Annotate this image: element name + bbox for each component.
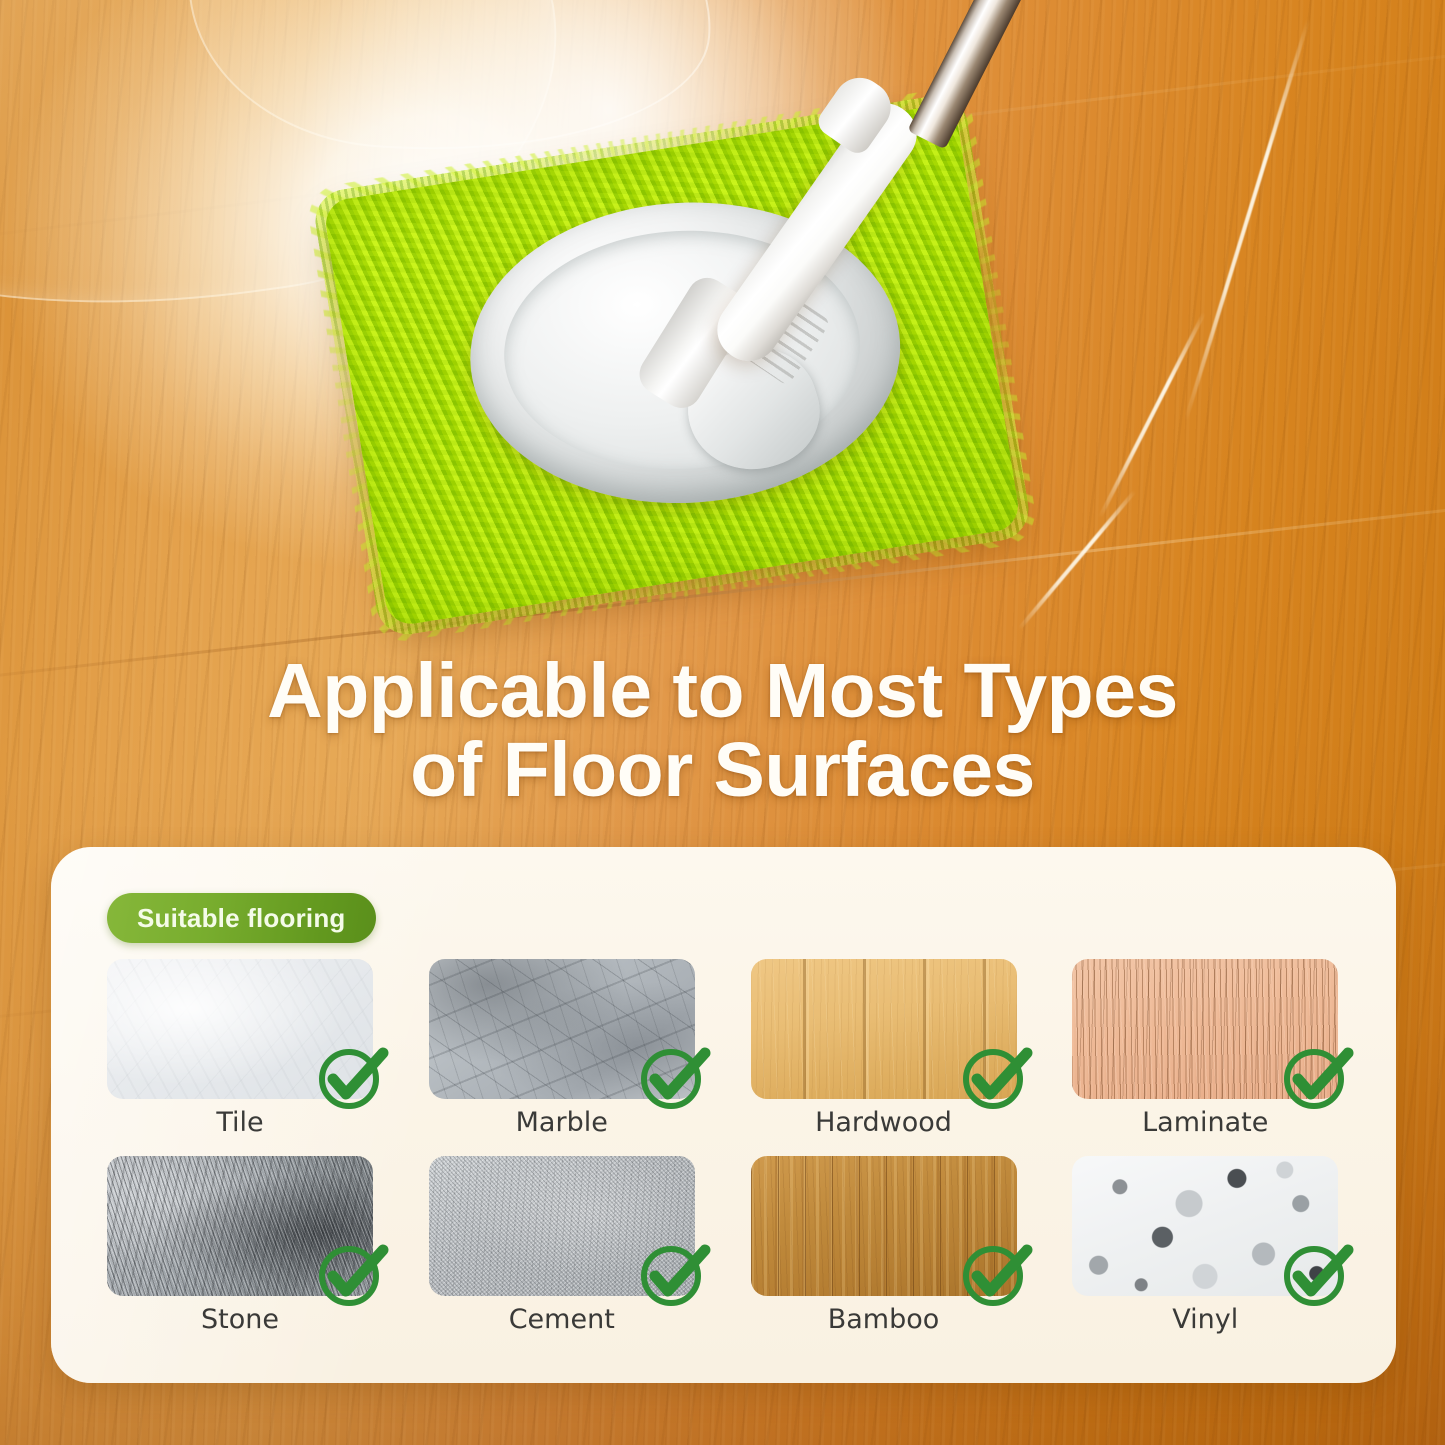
check-circle-icon: [1278, 1234, 1356, 1312]
product-feature-image: Applicable to Most Types of Floor Surfac…: [0, 0, 1445, 1445]
flooring-grid: Tile Marble Hardwood Laminate Stone Ceme…: [107, 959, 1342, 1335]
swatch-stone: [107, 1156, 373, 1296]
check-circle-icon: [313, 1234, 391, 1312]
swatch-marble: [429, 959, 695, 1099]
badge-label: Suitable flooring: [137, 903, 346, 934]
flooring-item: Bamboo: [751, 1156, 1021, 1335]
flooring-item: Laminate: [1072, 959, 1342, 1138]
flooring-item: Marble: [429, 959, 699, 1138]
swatch-cement: [429, 1156, 695, 1296]
flooring-item: Hardwood: [751, 959, 1021, 1138]
flooring-item: Vinyl: [1072, 1156, 1342, 1335]
swatch-laminate: [1072, 959, 1338, 1099]
suitable-flooring-card: Suitable flooring Tile Marble Hardwood L…: [51, 847, 1396, 1383]
flooring-item: Tile: [107, 959, 377, 1138]
flooring-item: Cement: [429, 1156, 699, 1335]
check-circle-icon: [313, 1037, 391, 1115]
check-circle-icon: [957, 1234, 1035, 1312]
check-circle-icon: [957, 1037, 1035, 1115]
swatch-tile: [107, 959, 373, 1099]
status-badge: Suitable flooring: [107, 893, 376, 943]
swatch-hardwood: [751, 959, 1017, 1099]
swatch-bamboo: [751, 1156, 1017, 1296]
swatch-vinyl: [1072, 1156, 1338, 1296]
check-circle-icon: [635, 1234, 713, 1312]
flooring-item: Stone: [107, 1156, 377, 1335]
check-circle-icon: [635, 1037, 713, 1115]
check-circle-icon: [1278, 1037, 1356, 1115]
